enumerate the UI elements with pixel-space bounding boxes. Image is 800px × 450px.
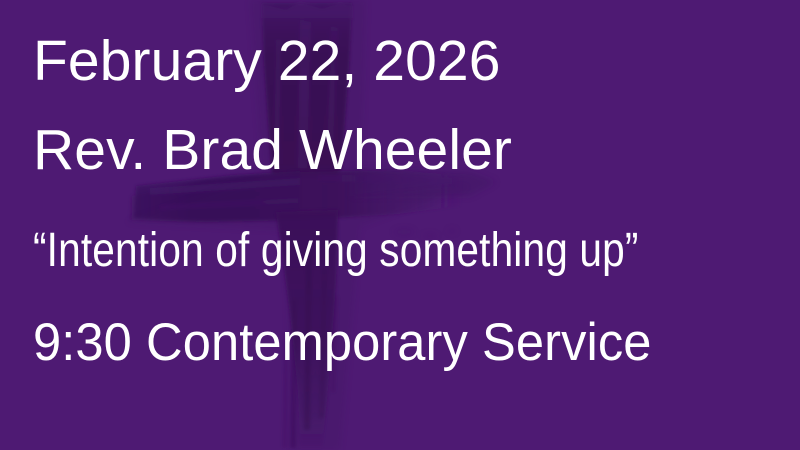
slide-text-block: February 22, 2026 Rev. Brad Wheeler “Int…: [0, 0, 800, 450]
service-date: February 22, 2026: [33, 28, 501, 94]
speaker-name: Rev. Brad Wheeler: [33, 117, 512, 183]
sermon-title: “Intention of giving something up”: [33, 222, 638, 280]
worship-slide: February 22, 2026 Rev. Brad Wheeler “Int…: [0, 0, 800, 450]
service-time-and-type: 9:30 Contemporary Service: [33, 312, 651, 374]
